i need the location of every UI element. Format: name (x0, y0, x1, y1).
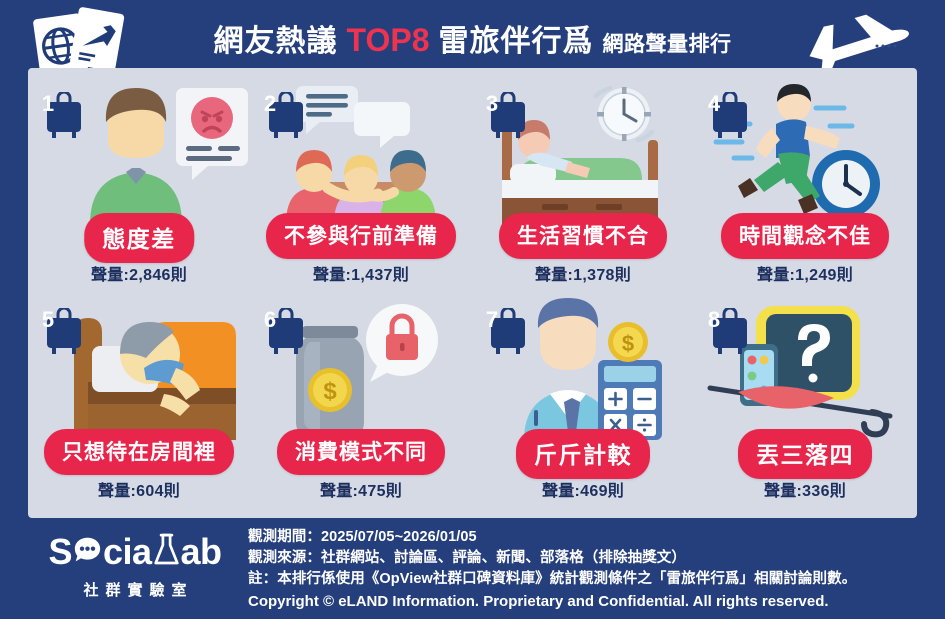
item-label: 丟三落四 (738, 429, 872, 479)
footer-bar: S cia ab 社群實驗 (0, 518, 945, 619)
rank-number: 3 (472, 91, 512, 117)
item-label: 態度差 (84, 213, 194, 263)
logo-text-part-cia: cia (103, 534, 152, 570)
ranking-row-1: 1 (28, 78, 917, 294)
copyright-text: Copyright © eLAND Information. Proprieta… (248, 591, 938, 613)
rank-number: 4 (694, 91, 734, 117)
ranking-item-6[interactable]: 6 $ 消費模式不同 (250, 294, 472, 510)
ranking-panel: 1 (28, 68, 917, 518)
rank-number: 2 (250, 91, 290, 117)
ranking-item-8[interactable]: 8 (694, 294, 916, 510)
note-remark: 註：本排行係使用《OpView社群口碑資料庫》統計觀測條件之「雷旅伴行爲」相關討… (248, 569, 938, 590)
item-label: 斤斤計較 (516, 429, 650, 479)
item-label: 消費模式不同 (277, 429, 445, 475)
ranking-item-4[interactable]: 4 (694, 78, 916, 294)
item-volume: 聲量:604則 (28, 477, 250, 501)
ranking-item-2[interactable]: 2 (250, 78, 472, 294)
item-label: 不參與行前準備 (266, 213, 456, 259)
page-title: 網友熱議 TOP8 雷旅伴行爲 網路聲量排行 (214, 16, 732, 60)
title-main: 網友熱議 (214, 16, 338, 60)
ranking-item-5[interactable]: 5 只想待在房間裡 聲量:6 (28, 294, 250, 510)
svg-text:$: $ (323, 378, 337, 405)
header-bar: 網友熱議 TOP8 雷旅伴行爲 網路聲量排行 (0, 0, 945, 75)
ranking-item-3[interactable]: 3 (472, 78, 694, 294)
item-label: 時間觀念不佳 (721, 213, 889, 259)
note-observation-period: 觀測期間：2025/07/05~2026/01/05 (248, 527, 938, 548)
item-volume: 聲量:2,846則 (28, 261, 250, 285)
item-volume: 聲量:1,378則 (472, 261, 694, 285)
ranking-row-2: 5 只想待在房間裡 聲量:6 (28, 294, 917, 510)
item-volume: 聲量:475則 (250, 477, 472, 501)
item-volume: 聲量:336則 (694, 477, 916, 501)
item-label: 只想待在房間裡 (44, 429, 234, 475)
speech-bubble-icon (73, 536, 102, 568)
logo-text-part-s: S (48, 534, 72, 570)
ranking-item-7[interactable]: 7 (472, 294, 694, 510)
item-volume: 聲量:469則 (472, 477, 694, 501)
title-topic: 雷旅伴行爲 (439, 16, 594, 60)
rank-number: 8 (694, 307, 734, 333)
title-subtitle: 網路聲量排行 (603, 28, 732, 58)
airplane-icon (797, 6, 917, 72)
item-label: 生活習慣不合 (499, 213, 667, 259)
infographic-root: 網友熱議 TOP8 雷旅伴行爲 網路聲量排行 (0, 0, 945, 619)
footer-notes: 觀測期間：2025/07/05~2026/01/05 觀測來源：社群網站、討論區… (248, 527, 938, 613)
logo-subtitle: 社群實驗室 (30, 579, 240, 600)
rank-number: 5 (28, 307, 68, 333)
item-volume: 聲量:1,437則 (250, 261, 472, 285)
flask-icon (153, 533, 180, 571)
title-rank: TOP8 (347, 22, 430, 59)
logo-text-part-lab: ab (181, 534, 222, 570)
rank-number: 1 (28, 91, 68, 117)
rank-number: 7 (472, 307, 512, 333)
sociallab-logo: S cia ab 社群實驗 (30, 530, 240, 608)
item-volume: 聲量:1,249則 (694, 261, 916, 285)
svg-text:$: $ (622, 331, 634, 356)
note-observation-source: 觀測來源：社群網站、討論區、評論、新聞、部落格（排除抽獎文） (248, 548, 938, 569)
passport-globe-ticket-icon (22, 5, 142, 75)
ranking-item-1[interactable]: 1 (28, 78, 250, 294)
rank-number: 6 (250, 307, 290, 333)
